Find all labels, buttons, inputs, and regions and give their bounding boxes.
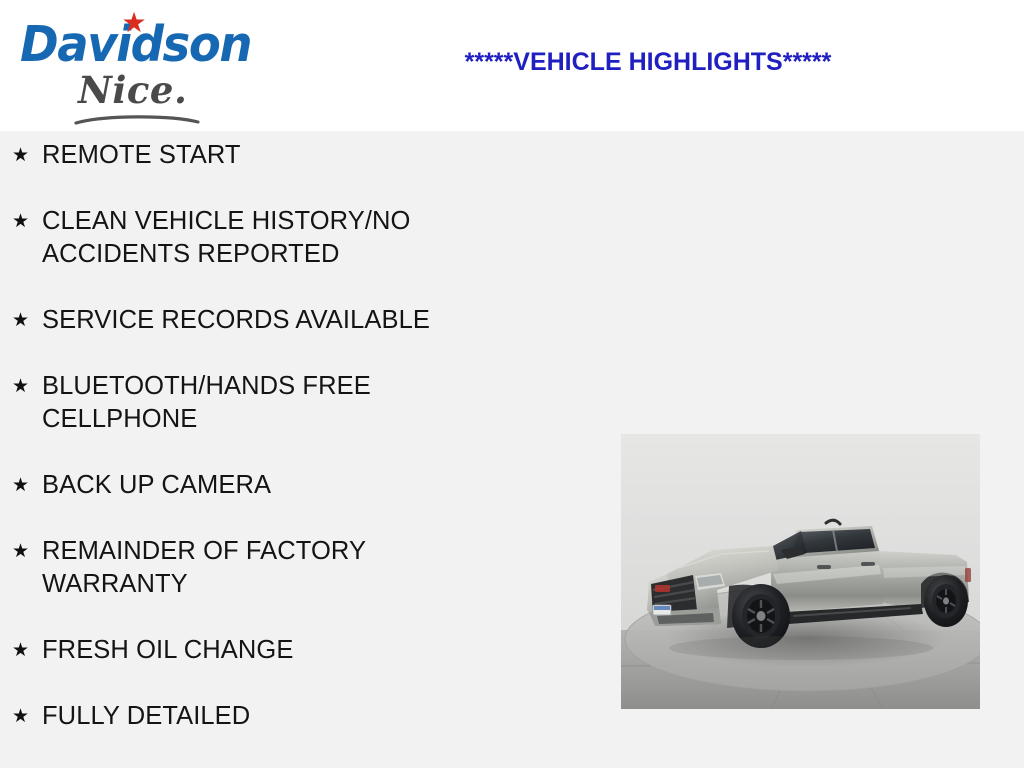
star-bullet-icon: ★	[12, 700, 42, 733]
highlight-label: FULLY DETAILED	[42, 700, 502, 733]
list-item: ★ BLUETOOTH/HANDS FREE CELLPHONE	[0, 370, 540, 436]
list-item: ★ SERVICE RECORDS AVAILABLE	[0, 304, 540, 337]
star-bullet-icon: ★	[12, 535, 42, 568]
star-bullet-icon: ★	[12, 139, 42, 172]
vehicle-highlights-page: Davidson ★ Nice. *****VEHICLE HIGHLIGHTS…	[0, 0, 1024, 768]
star-bullet-icon: ★	[12, 205, 42, 238]
page-header: Davidson ★ Nice. *****VEHICLE HIGHLIGHTS…	[0, 0, 1024, 131]
highlight-label: FRESH OIL CHANGE	[42, 634, 502, 667]
list-item: ★ FRESH OIL CHANGE	[0, 634, 540, 667]
star-bullet-icon: ★	[12, 304, 42, 337]
list-item: ★ CLEAN VEHICLE HISTORY/NO ACCIDENTS REP…	[0, 205, 540, 271]
swoosh-underline-icon	[74, 114, 200, 126]
vehicle-photo[interactable]	[621, 434, 980, 709]
vehicle-photo-illustration	[621, 434, 980, 709]
dealer-logo[interactable]: Davidson ★ Nice.	[12, 6, 272, 124]
highlight-label: SERVICE RECORDS AVAILABLE	[42, 304, 502, 337]
list-item: ★ REMOTE START	[0, 139, 540, 172]
list-item: ★ FULLY DETAILED	[0, 700, 540, 733]
page-title: *****VEHICLE HIGHLIGHTS*****	[272, 48, 1024, 77]
highlight-label: REMOTE START	[42, 139, 502, 172]
star-bullet-icon: ★	[12, 370, 42, 403]
highlight-label: BACK UP CAMERA	[42, 469, 502, 502]
highlight-label: BLUETOOTH/HANDS FREE CELLPHONE	[42, 370, 502, 436]
dealer-logo-location: Nice.	[78, 72, 187, 109]
star-bullet-icon: ★	[12, 634, 42, 667]
list-item: ★ BACK UP CAMERA	[0, 469, 540, 502]
star-bullet-icon: ★	[12, 469, 42, 502]
vehicle-highlights-list: ★ REMOTE START ★ CLEAN VEHICLE HISTORY/N…	[0, 139, 540, 766]
list-item: ★ REMAINDER OF FACTORY WARRANTY	[0, 535, 540, 601]
star-icon: ★	[121, 10, 147, 36]
page-body: ★ REMOTE START ★ CLEAN VEHICLE HISTORY/N…	[0, 131, 1024, 768]
highlight-label: REMAINDER OF FACTORY WARRANTY	[42, 535, 502, 601]
highlight-label: CLEAN VEHICLE HISTORY/NO ACCIDENTS REPOR…	[42, 205, 502, 271]
